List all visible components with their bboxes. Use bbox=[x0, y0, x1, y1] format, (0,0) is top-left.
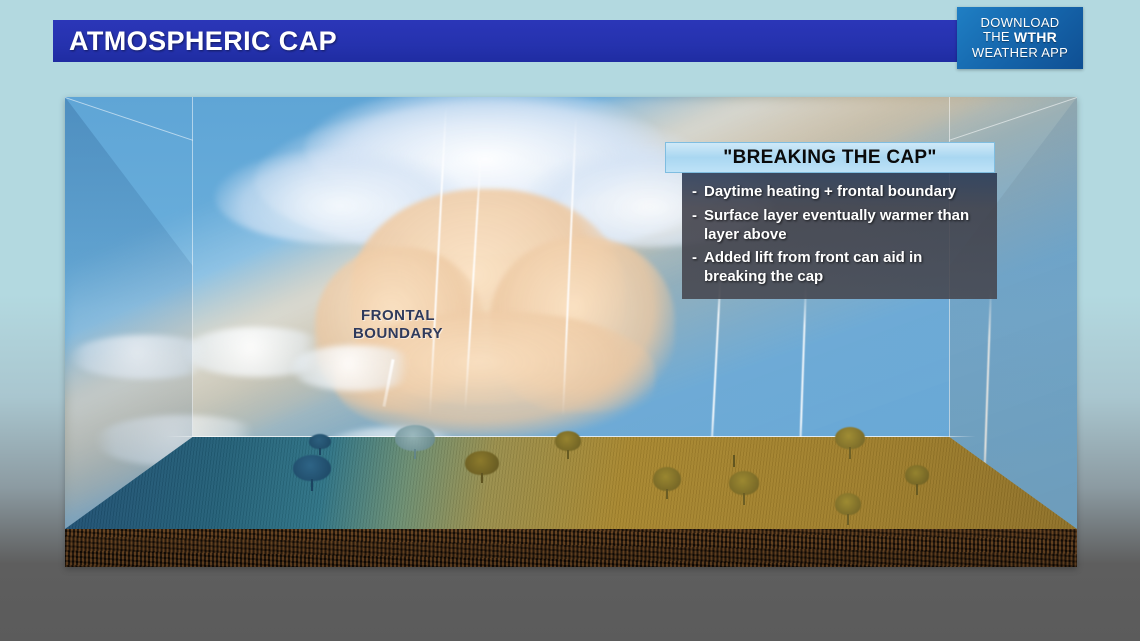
badge-line-2: THE WTHR bbox=[983, 30, 1057, 45]
tree-warm-1-trunk bbox=[481, 473, 483, 483]
frontal-label-line-2: BOUNDARY bbox=[333, 325, 463, 343]
tree-cool-2 bbox=[293, 455, 331, 481]
frontal-label-line-1: FRONTAL bbox=[333, 307, 463, 325]
tree-warm-2 bbox=[555, 431, 581, 451]
breaking-the-cap-callout: "BREAKING THE CAP" - Daytime heating + f… bbox=[665, 142, 995, 299]
bullet-marker: - bbox=[692, 249, 697, 287]
download-app-badge[interactable]: DOWNLOAD THE WTHR WEATHER APP bbox=[957, 7, 1083, 69]
tree-warm-1 bbox=[465, 451, 499, 475]
tree-warm-8-trunk bbox=[847, 514, 849, 525]
tree-cool-1 bbox=[309, 434, 331, 449]
callout-bullet-2: - Surface layer eventually warmer than l… bbox=[692, 207, 985, 245]
tree-warm-7 bbox=[905, 465, 929, 485]
callout-header: "BREAKING THE CAP" bbox=[665, 142, 995, 173]
cloud-puff-right bbox=[290, 345, 420, 391]
tree-warm-3-trunk bbox=[666, 489, 668, 499]
badge-line-1: DOWNLOAD bbox=[981, 16, 1060, 30]
tree-warm-4-trunk bbox=[733, 455, 735, 467]
bullet-marker: - bbox=[692, 207, 697, 245]
tree-warm-6 bbox=[835, 427, 865, 449]
callout-bullet-1: - Daytime heating + frontal boundary bbox=[692, 183, 985, 202]
tree-warm-5 bbox=[729, 471, 759, 495]
frontal-boundary-label: FRONTAL BOUNDARY bbox=[333, 307, 463, 342]
badge-the-text: THE bbox=[983, 30, 1010, 45]
tree-cool-1-trunk bbox=[319, 448, 321, 455]
callout-bullet-3: - Added lift from front can aid in break… bbox=[692, 249, 985, 287]
tree-cool-2-trunk bbox=[311, 479, 313, 491]
soil-layer bbox=[65, 529, 1077, 567]
tree-boundary-1-trunk bbox=[414, 449, 416, 459]
bullet-text: Surface layer eventually warmer than lay… bbox=[704, 207, 985, 245]
tree-warm-7-trunk bbox=[916, 484, 918, 495]
atmosphere-diagram: FRONTAL BOUNDARY "BREAKING THE CAP" - Da… bbox=[65, 97, 1077, 567]
title-bar: ATMOSPHERIC CAP bbox=[53, 20, 1080, 62]
tree-warm-6-trunk bbox=[849, 447, 851, 459]
tree-warm-3 bbox=[653, 467, 681, 491]
tree-boundary-1 bbox=[395, 425, 435, 451]
tree-warm-8 bbox=[835, 493, 861, 515]
tree-warm-2-trunk bbox=[567, 450, 569, 459]
page-title: ATMOSPHERIC CAP bbox=[69, 26, 337, 57]
callout-body: - Daytime heating + frontal boundary - S… bbox=[682, 173, 997, 299]
bullet-text: Added lift from front can aid in breakin… bbox=[704, 249, 985, 287]
bullet-text: Daytime heating + frontal boundary bbox=[704, 183, 956, 202]
tree-warm-5-trunk bbox=[743, 493, 745, 505]
badge-brand-wthr: WTHR bbox=[1014, 30, 1057, 45]
bullet-marker: - bbox=[692, 183, 697, 202]
callout-title: "BREAKING THE CAP" bbox=[723, 147, 936, 169]
badge-line-3: WEATHER APP bbox=[972, 46, 1068, 60]
